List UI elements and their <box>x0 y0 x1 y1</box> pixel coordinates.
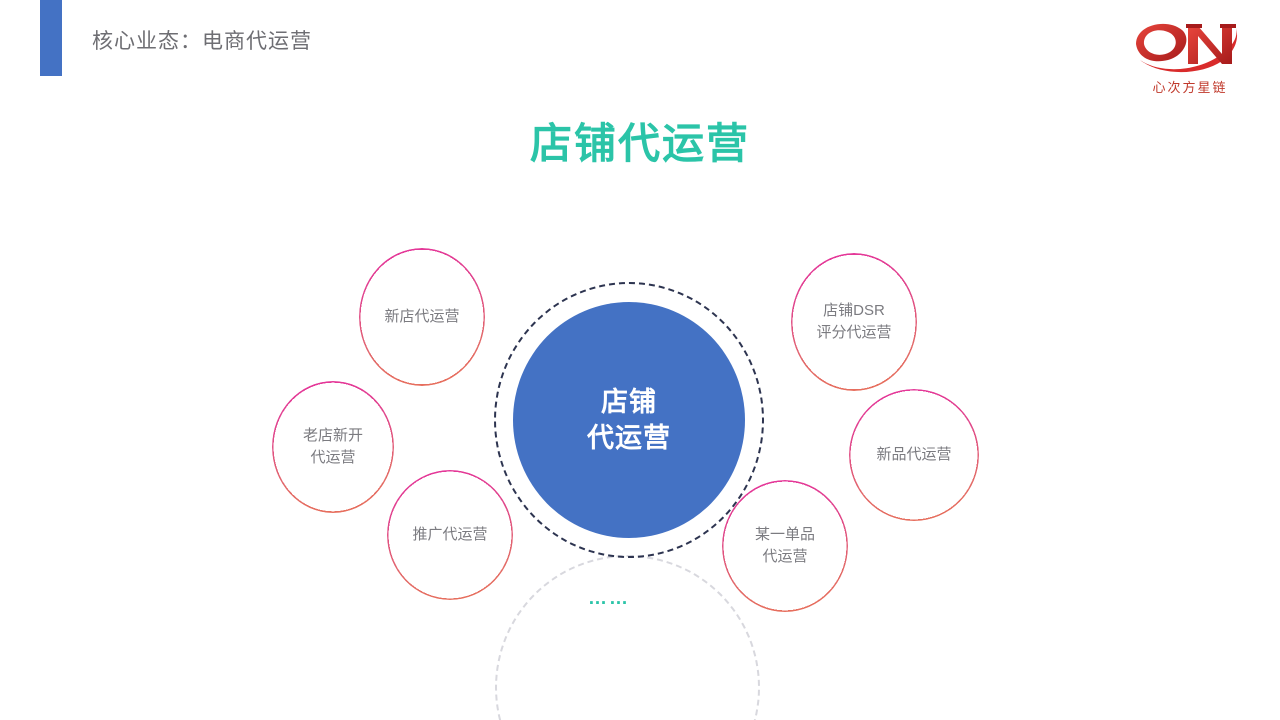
node-dsr-score[interactable]: 店铺DSR评分代运营 <box>791 253 917 391</box>
hub-circle[interactable]: 店铺 代运营 <box>513 302 745 538</box>
node-new-product[interactable]: 新品代运营 <box>849 389 979 521</box>
node-label-old-store: 老店新开代运营 <box>295 425 371 469</box>
lower-dashed-ring <box>495 555 760 720</box>
hub-label: 店铺 代运营 <box>587 384 671 457</box>
node-label-promotion: 推广代运营 <box>404 524 495 546</box>
node-label-new-product: 新品代运营 <box>868 444 959 466</box>
hub-and-spoke-diagram: 店铺 代运营 …… 新店代运营老店新开代运营推广代运营店铺DSR评分代运营新品代… <box>0 0 1280 720</box>
node-promotion[interactable]: 推广代运营 <box>387 470 513 600</box>
node-label-dsr-score: 店铺DSR评分代运营 <box>808 300 899 344</box>
ellipsis-text: …… <box>588 588 630 610</box>
node-single-item[interactable]: 某一单品代运营 <box>722 480 848 612</box>
node-new-store[interactable]: 新店代运营 <box>359 248 485 386</box>
hub-label-line1: 店铺 <box>601 387 657 417</box>
hub-label-line2: 代运营 <box>587 423 671 453</box>
node-old-store[interactable]: 老店新开代运营 <box>272 381 394 513</box>
slide: 核心业态：电商代运营 心次方星链 店铺代运营 <box>0 0 1280 720</box>
node-label-new-store: 新店代运营 <box>376 306 467 328</box>
node-label-single-item: 某一单品代运营 <box>747 524 823 568</box>
